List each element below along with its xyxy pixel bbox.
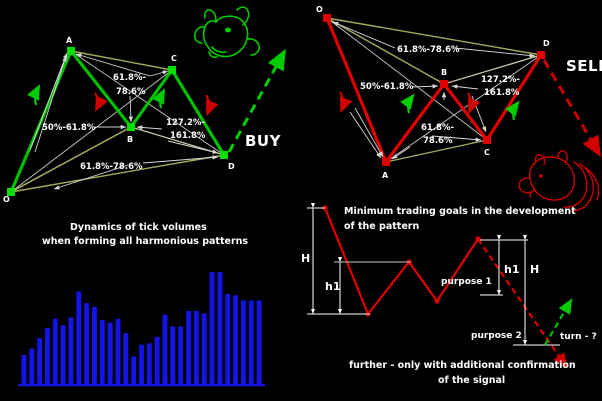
volume-bar	[210, 272, 215, 385]
bear-dir-arrow-up-2	[513, 104, 517, 120]
volume-bar	[76, 291, 81, 385]
volume-bar	[186, 311, 191, 385]
bull-dir-arrow-down-2	[206, 95, 209, 112]
goals-title-line1: Minimum trading goals in the development	[344, 206, 576, 217]
sell-label: SELL	[566, 57, 602, 75]
bull-dir-arrow-up-1	[35, 88, 38, 105]
bear-label-D: D	[543, 39, 550, 48]
bear-pattern-group: O A B C D 61.8%-78.6% 50%-61.8% 127.2%- …	[316, 5, 602, 211]
volume-bar	[233, 295, 238, 385]
bull-ratio-4: 161.8%	[170, 131, 206, 141]
volume-bar	[53, 319, 58, 385]
volume-bar	[100, 320, 105, 385]
goals-diagram: Minimum trading goals in the development…	[301, 205, 597, 386]
volume-bar	[257, 301, 262, 386]
purpose-2-label: purpose 2	[471, 331, 522, 341]
goals-pt-4	[434, 298, 439, 303]
bull-dir-arrow-down-1	[95, 93, 98, 108]
volume-bar	[241, 301, 246, 386]
volume-bar	[170, 327, 175, 386]
volume-bar	[108, 323, 113, 385]
goals-title-line2: of the pattern	[344, 221, 419, 232]
volume-bar	[123, 333, 128, 385]
bear-point-B	[440, 80, 448, 88]
bull-point-D	[220, 151, 228, 159]
bear-point-D	[537, 51, 545, 59]
bear-point-A	[382, 158, 390, 166]
bull-dir-arrow-up-2	[160, 92, 163, 108]
bear-ratio-5: 78.6%	[423, 136, 453, 146]
bear-label-O: O	[316, 5, 323, 14]
bear-ratio-0: 61.8%-78.6%	[397, 45, 460, 55]
bear-label-C: C	[484, 148, 490, 157]
bull-point-A	[67, 47, 75, 55]
volume-bar	[61, 325, 66, 385]
volume-bar	[21, 355, 26, 385]
volume-bar	[139, 345, 144, 385]
bear-ratio-3: 161.8%	[484, 88, 520, 98]
volume-bar	[116, 319, 121, 385]
h-label-right: H	[530, 263, 539, 276]
volume-bar	[84, 303, 89, 385]
goals-footer-line1: further - only with additional confirmat…	[349, 360, 576, 371]
purpose-1-label: purpose 1	[441, 277, 492, 287]
volume-bar	[69, 317, 74, 385]
goals-pt-5	[475, 236, 480, 241]
h1-label-left: h1	[325, 280, 341, 293]
volume-chart-title-line1: Dynamics of tick volumes	[70, 222, 207, 233]
bear-ratio-2: 127.2%-	[481, 75, 520, 85]
bear-ratio-1: 50%-61.8%	[360, 82, 414, 92]
h1-label-right: h1	[504, 263, 520, 276]
bear-label-B: B	[441, 68, 447, 77]
bull-label-C: C	[171, 54, 177, 63]
bull-ratio-3: 127.2%-	[166, 118, 205, 128]
bear-dir-arrow-up-1	[408, 97, 412, 113]
volume-bar	[163, 315, 168, 385]
volume-bar	[147, 343, 152, 385]
bear-dir-arrow-down-1	[340, 92, 343, 109]
volume-bar	[225, 294, 230, 385]
bull-point-B	[127, 123, 135, 131]
bear-point-C	[483, 136, 491, 144]
bull-ratio-1: 78.6%	[116, 87, 146, 97]
turn-label: turn - ?	[560, 332, 597, 342]
bull-label-O: O	[3, 195, 10, 204]
volume-bar	[92, 307, 97, 385]
goals-projection-path	[478, 239, 565, 365]
bull-label-A: A	[66, 36, 73, 45]
bull-label-B: B	[127, 135, 133, 144]
volume-bar	[45, 328, 50, 385]
bull-label-D: D	[228, 162, 235, 171]
bear-ratio-4: 61.8%-	[421, 123, 454, 133]
volume-bar	[29, 349, 34, 385]
volume-bar	[131, 356, 136, 385]
bull-ratio-0: 61.8%-	[113, 73, 146, 83]
bull-point-C	[168, 66, 176, 74]
bull-ratio-2: 50%-61.8%	[42, 123, 96, 133]
bull-pattern-group: O A B C D 61.8%- 78.6% 50%-61.8% 127.2%-…	[3, 7, 283, 204]
goals-footer-line2: of the signal	[438, 375, 505, 386]
buy-label: BUY	[245, 132, 282, 150]
bear-head-icon	[519, 151, 599, 211]
volume-bar	[217, 272, 222, 385]
volume-bars	[21, 272, 261, 385]
bear-point-O	[323, 14, 331, 22]
bear-dir-arrow-down-2	[468, 93, 471, 110]
volume-bar	[37, 338, 42, 385]
volume-bar	[202, 314, 207, 386]
volume-bar	[178, 327, 183, 386]
bear-label-A: A	[382, 171, 389, 180]
volume-bar	[249, 301, 254, 386]
volume-bar	[155, 337, 160, 385]
h-label-left: H	[301, 252, 310, 265]
volume-bar	[194, 311, 199, 385]
volume-chart-title-line2: when forming all harmonious patterns	[42, 236, 248, 247]
bull-ratio-5: 61.8%-78.6%	[80, 162, 143, 172]
bull-head-icon	[195, 7, 259, 57]
volume-bar-chart: Dynamics of tick volumes when forming al…	[18, 222, 265, 385]
chart-canvas: O A B C D 61.8%- 78.6% 50%-61.8% 127.2%-…	[0, 0, 602, 401]
